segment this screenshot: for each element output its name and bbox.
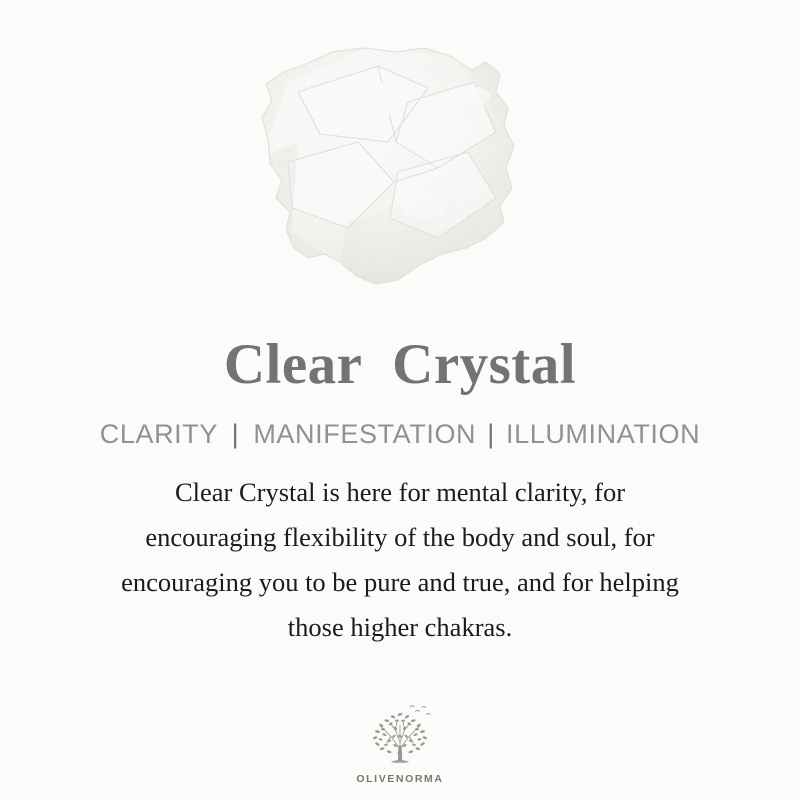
page-title: Clear Crystal (224, 330, 576, 393)
description-line: encouraging flexibility of the body and … (44, 515, 756, 560)
tree-roots (391, 759, 410, 762)
description-line: those higher chakras. (44, 605, 756, 650)
description-line: encouraging you to be pure and true, and… (44, 560, 756, 605)
tree-trunk (398, 745, 402, 761)
keyword-manifestation: MANIFESTATION (253, 419, 476, 449)
product-image-area (0, 0, 800, 330)
keyword-list: CLARITY | MANIFESTATION | ILLUMINATION (100, 393, 700, 448)
keyword-clarity: CLARITY (100, 419, 218, 449)
birds-icon (410, 705, 430, 714)
brand-logo: OLIVENORMA (0, 702, 800, 785)
keyword-separator: | (226, 419, 246, 449)
keyword-illumination: ILLUMINATION (506, 419, 700, 449)
product-info-card: Clear Crystal CLARITY | MANIFESTATION | … (0, 0, 800, 800)
description-line: Clear Crystal is here for mental clarity… (44, 470, 756, 515)
product-description: Clear Crystal is here for mental clarity… (44, 448, 756, 650)
crystal-texture (228, 22, 538, 312)
olive-tree-logo-icon (361, 702, 439, 772)
keyword-separator: | (484, 419, 498, 449)
product-image (228, 22, 538, 312)
brand-wordmark: OLIVENORMA (356, 772, 443, 785)
clear-crystal-stone-icon (228, 22, 538, 312)
